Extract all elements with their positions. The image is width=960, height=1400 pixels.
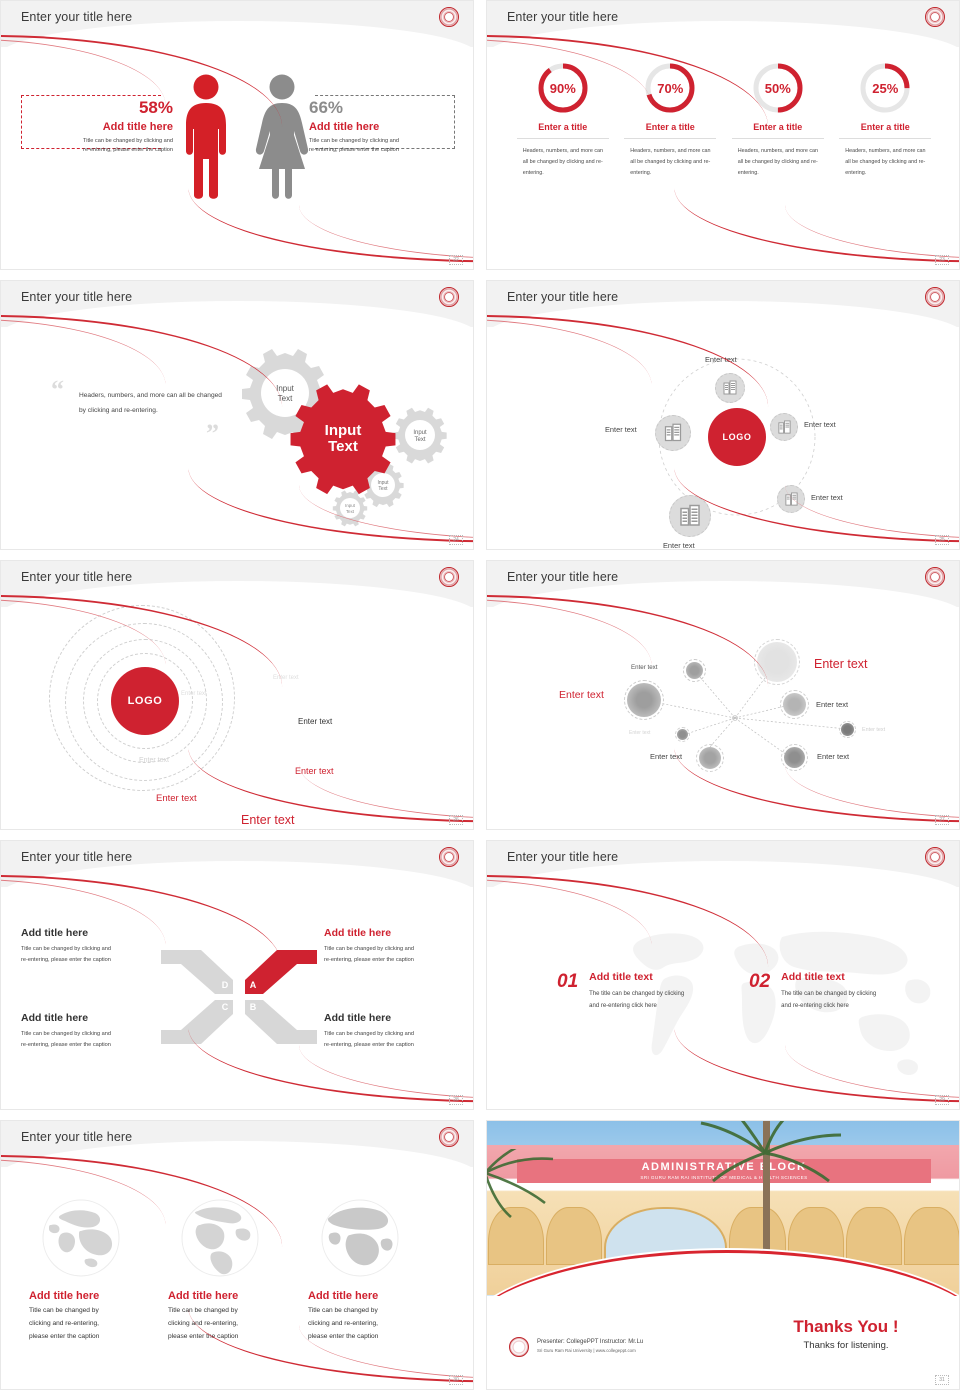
donut-body: Headers, numbers, and more can all be ch… (517, 146, 609, 178)
donut-body: Headers, numbers, and more can all be ch… (624, 146, 716, 178)
network-label-faint-right: Enter text (862, 727, 885, 733)
right-caption-line1: Title can be changed by clicking and (309, 137, 459, 147)
palm-fronds-left-icon (487, 1149, 583, 1219)
page-title: Enter your title here (21, 290, 132, 304)
building-icon (777, 420, 792, 435)
block-line2: re-entering, please enter the caption (21, 1040, 173, 1051)
thanks-subtext: Thanks for listening. (751, 1340, 941, 1351)
network-node-medium-right[interactable] (783, 693, 806, 716)
slide-deck-grid: Enter your title here 58% Add tit (0, 0, 960, 1390)
right-caption: Title can be changed by clicking and re-… (309, 137, 459, 157)
palm-fronds-icon (699, 1121, 849, 1189)
page-title: Enter your title here (507, 850, 618, 864)
network-node-small-far-right[interactable] (841, 723, 854, 736)
page-number: 25 (935, 535, 949, 545)
donut-card[interactable]: 25% Enter a title Headers, numbers, and … (839, 61, 931, 178)
page-number: 24 (449, 535, 463, 545)
arch (846, 1207, 902, 1265)
thanks-heading: Thanks You ! (751, 1317, 941, 1337)
map-item-01[interactable]: 01 Add title text The title can be chang… (557, 971, 684, 1012)
donut-body: Headers, numbers, and more can all be ch… (732, 146, 824, 178)
hub-node-bottom[interactable] (669, 495, 711, 537)
svg-text:B: B (250, 1002, 257, 1012)
arch (904, 1207, 960, 1265)
svg-text:Input: Input (276, 384, 295, 393)
right-heading: Add title here (309, 121, 459, 133)
item-heading: Add title text (589, 971, 684, 983)
university-seal-icon (439, 7, 459, 27)
network-node-tiny-left[interactable] (677, 729, 688, 740)
block-line1: Title can be changed by clicking and (324, 944, 474, 955)
block-text: Title can be changed by clicking and re-… (324, 944, 474, 966)
page-number: 30 (449, 1375, 463, 1385)
slide-three-globes[interactable]: Enter your title here Add title here (0, 1120, 474, 1390)
slide-gears[interactable]: Enter your title here “ ” Headers, numbe… (0, 280, 474, 550)
item-heading: Add title text (781, 971, 876, 983)
university-seal-icon (439, 567, 459, 587)
hub-node-label-left: Enter text (605, 425, 637, 434)
donut-body: Headers, numbers, and more can all be ch… (839, 146, 931, 178)
page-title: Enter your title here (507, 10, 618, 24)
university-seal-icon (925, 847, 945, 867)
block-heading: Add title here (324, 927, 474, 939)
gear-secondary-right: Input Text (393, 408, 446, 464)
globe-icon (316, 1197, 404, 1279)
hub-node-left[interactable] (655, 415, 691, 451)
slide-donut-percentages[interactable]: Enter your title here 90% Enter a title … (486, 0, 960, 270)
slide-x-arrows[interactable]: Enter your title here Add title here Tit… (0, 840, 474, 1110)
university-seal-icon (439, 287, 459, 307)
page-title: Enter your title here (21, 570, 132, 584)
page-number: 28 (449, 1095, 463, 1105)
network-label-red-top: Enter text (814, 657, 868, 671)
network-label-faint-left: Enter text (629, 730, 650, 736)
left-caption-line2: re-entering, please enter the caption (23, 146, 173, 156)
block-top-right: Add title here Title can be changed by c… (324, 927, 474, 966)
page-title: Enter your title here (21, 10, 132, 24)
university-seal-icon (509, 1337, 529, 1357)
item-line1: The title can be changed by clicking (589, 988, 684, 1000)
university-seal-icon (925, 7, 945, 27)
right-percent: 66% (309, 99, 459, 118)
svg-text:Text: Text (414, 437, 425, 443)
page-number: 27 (935, 815, 949, 825)
right-stat-block: 66% Add title here Title can be changed … (309, 99, 459, 156)
organization-line: Sri Guru Ram Rai University | www.colleg… (537, 1348, 636, 1353)
block-line2: re-entering, please enter the caption (324, 955, 474, 966)
globe-heading: Add title here (308, 1290, 438, 1302)
block-heading: Add title here (324, 1012, 474, 1024)
donut-value: 25% (858, 61, 912, 115)
network-label-right: Enter text (816, 700, 848, 709)
svg-text:Text: Text (328, 438, 358, 455)
slide-world-map-two-items[interactable]: Enter your title here 0 (486, 840, 960, 1110)
item-line2: and re-entering click here (781, 1000, 876, 1012)
donut-chart-25: 25% (858, 61, 912, 115)
quote-close-icon: ” (206, 419, 219, 449)
university-seal-icon (925, 287, 945, 307)
thanks-block: Thanks You ! Thanks for listening. (751, 1317, 941, 1351)
ring-label-red-big-bottom: Enter text (241, 813, 295, 827)
map-item-02[interactable]: 02 Add title text The title can be chang… (749, 971, 876, 1012)
item-line1: The title can be changed by clicking (781, 988, 876, 1000)
page-number: 23 (935, 255, 949, 265)
slide-hub-spoke[interactable]: Enter your title here Enter text (486, 280, 960, 550)
block-line1: Title can be changed by clicking and (21, 1029, 173, 1040)
item-text: The title can be changed by clicking and… (589, 988, 684, 1012)
page-number: 22 (449, 255, 463, 265)
hub-node-upper-right[interactable] (770, 413, 798, 441)
university-seal-icon (439, 1127, 459, 1147)
svg-text:C: C (222, 1002, 229, 1012)
right-caption-line2: re-entering, please enter the caption (309, 146, 459, 156)
block-bottom-left: Add title here Title can be changed by c… (21, 1012, 173, 1051)
svg-text:A: A (250, 980, 257, 990)
slide-thanks[interactable]: ADMINISTRATIVE BLOCK SRI GURU RAM RAI IN… (486, 1120, 960, 1390)
building-icon (678, 504, 702, 528)
ring-label-red-lower-left: Enter text (156, 793, 197, 804)
page-title: Enter your title here (21, 850, 132, 864)
globe-line1: Title can be changed by (29, 1305, 159, 1318)
ring-label-faint-upper-left: Enter text (181, 691, 207, 697)
building-icon (663, 423, 683, 443)
block-heading: Add title here (21, 1012, 173, 1024)
globe-heading: Add title here (29, 1290, 159, 1302)
page-number: 29 (935, 1095, 949, 1105)
hub-center-logo[interactable]: LOGO (708, 408, 766, 466)
page-number: 31 (935, 1375, 949, 1385)
item-number: 02 (749, 971, 770, 993)
slide-gender-stats[interactable]: Enter your title here 58% Add tit (0, 0, 474, 270)
donut-title: Enter a title (839, 122, 931, 139)
page-title: Enter your title here (507, 570, 618, 584)
item-line2: and re-entering click here (589, 1000, 684, 1012)
svg-text:Input: Input (413, 430, 427, 436)
item-text: The title can be changed by clicking and… (781, 988, 876, 1012)
ring-label-dark-right: Enter text (298, 717, 332, 726)
page-number: 26 (449, 815, 463, 825)
university-seal-icon (925, 567, 945, 587)
left-caption: Title can be changed by clicking and re-… (23, 137, 173, 157)
svg-text:D: D (222, 980, 229, 990)
item-number: 01 (557, 971, 578, 993)
university-seal-icon (439, 847, 459, 867)
block-text: Title can be changed by clicking and re-… (21, 1029, 173, 1051)
globe-line3: please enter the caption (29, 1331, 159, 1344)
presenter-line: Presenter: CollegePPT Instructor: Mr.Lu (537, 1339, 643, 1345)
left-caption-line1: Title can be changed by clicking and (23, 137, 173, 147)
slide-concentric-rings[interactable]: Enter your title here LOGO Enter text En… (0, 560, 474, 830)
page-title: Enter your title here (21, 1130, 132, 1144)
slide-network-nodes[interactable]: Enter your title here Enter (486, 560, 960, 830)
hub-node-label-bottom: Enter text (663, 541, 695, 550)
globe-text: Title can be changed by clicking and re-… (29, 1305, 159, 1344)
globe-heading: Add title here (168, 1290, 298, 1302)
campus-photo: ADMINISTRATIVE BLOCK SRI GURU RAM RAI IN… (487, 1121, 960, 1296)
globe-line2: clicking and re-entering, (29, 1318, 159, 1331)
hub-node-label-upper-right: Enter text (804, 420, 836, 429)
svg-text:Input: Input (325, 422, 362, 439)
ring-label-faint-left: Enter text (139, 757, 169, 764)
page-title: Enter your title here (507, 290, 618, 304)
